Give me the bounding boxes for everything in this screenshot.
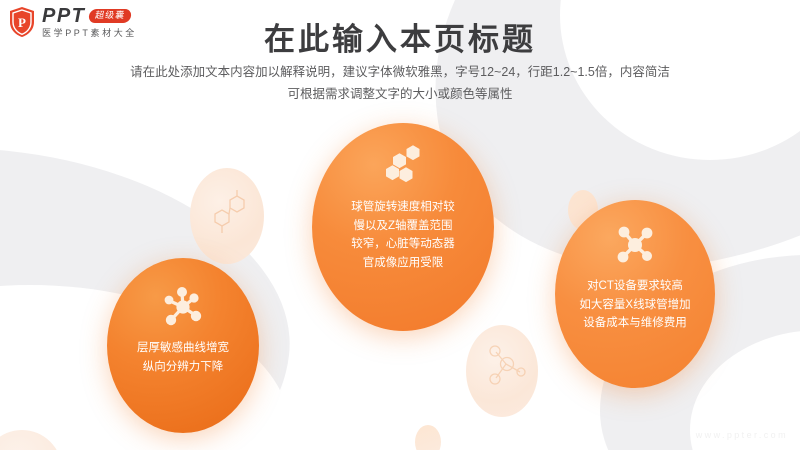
bubble-left-line-1: 层厚敏感曲线增宽 bbox=[137, 339, 229, 358]
decorative-circle-small-bottom bbox=[415, 425, 441, 450]
bubble-middle-text: 球管旋转速度相对较 慢以及Z轴覆盖范围 较窄，心脏等动态器 官成像应用受限 bbox=[337, 198, 469, 273]
bubble-middle[interactable]: 球管旋转速度相对较 慢以及Z轴覆盖范围 较窄，心脏等动态器 官成像应用受限 bbox=[312, 123, 494, 331]
bubble-middle-line-3: 较窄，心脏等动态器 bbox=[351, 235, 455, 254]
molecule-four-node-icon bbox=[613, 224, 657, 271]
bubble-right-text: 对CT设备要求较高 如大容量X线球管增加 设备成本与维修费用 bbox=[565, 277, 704, 333]
bubble-right-line-2: 如大容量X线球管增加 bbox=[579, 296, 690, 315]
decorative-circle-center bbox=[466, 325, 538, 417]
bubble-middle-line-1: 球管旋转速度相对较 bbox=[351, 198, 455, 217]
bubble-left-text: 层厚敏感曲线增宽 纵向分辨力下降 bbox=[123, 339, 243, 376]
page-subtitle: 请在此处添加文本内容加以解释说明，建议字体微软雅黑，字号12~24，行距1.2~… bbox=[90, 62, 710, 106]
hexagon-honeycomb-icon bbox=[381, 145, 425, 192]
bubble-right-line-1: 对CT设备要求较高 bbox=[579, 277, 690, 296]
bubble-middle-line-2: 慢以及Z轴覆盖范围 bbox=[351, 217, 455, 236]
bubble-right[interactable]: 对CT设备要求较高 如大容量X线球管增加 设备成本与维修费用 bbox=[555, 200, 715, 388]
decorative-circle-small-left bbox=[0, 430, 62, 450]
bubble-left-line-2: 纵向分辨力下降 bbox=[137, 358, 229, 377]
molecule-five-node-icon bbox=[161, 286, 205, 333]
page-subtitle-line-1: 请在此处添加文本内容加以解释说明，建议字体微软雅黑，字号12~24，行距1.2~… bbox=[90, 62, 710, 84]
page-title: 在此输入本页标题 bbox=[0, 14, 800, 59]
slide-canvas: P PPT 超级囊 医学PPT素材大全 在此输入本页标题 请在此处添加文本内容加… bbox=[0, 0, 800, 450]
decorative-circle-left bbox=[190, 168, 264, 264]
footer-watermark: www.ppter.com bbox=[696, 430, 788, 440]
bubble-right-line-3: 设备成本与维修费用 bbox=[579, 314, 690, 333]
hexagon-molecule-outline-icon bbox=[206, 188, 252, 240]
bubble-middle-line-4: 官成像应用受限 bbox=[351, 254, 455, 273]
bubble-left[interactable]: 层厚敏感曲线增宽 纵向分辨力下降 bbox=[107, 258, 259, 433]
node-molecule-outline-icon bbox=[484, 342, 530, 394]
page-subtitle-line-2: 可根据需求调整文字的大小或颜色等属性 bbox=[90, 84, 710, 106]
